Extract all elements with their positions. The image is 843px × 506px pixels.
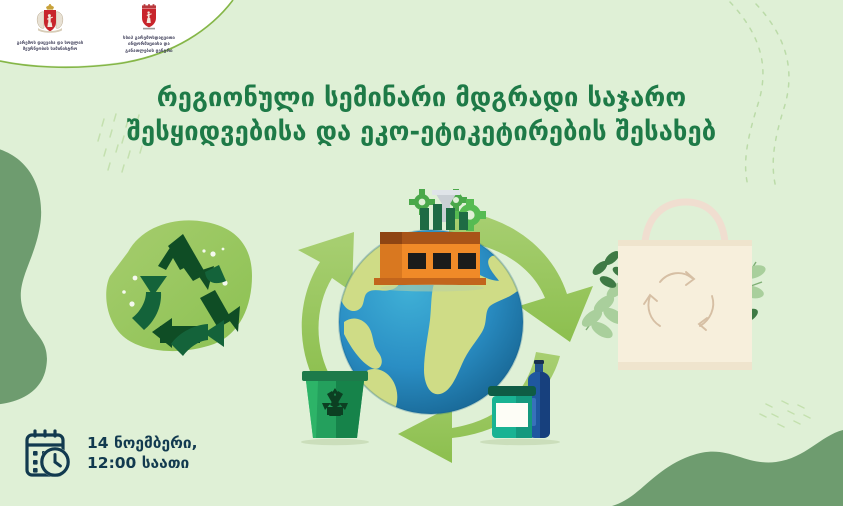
header-logos: გარემოს დაცვისა და სოფლის მეურნეობის სამ…: [0, 0, 220, 56]
calendar-clock-icon: [24, 428, 76, 478]
page-title: რეგიონული სემინარი მდგრადი საჯარო შესყიდ…: [0, 82, 843, 150]
bag-body: [618, 240, 752, 370]
environmental-information-and-education-centre-emblem: [139, 4, 159, 30]
title-line-2: შესყიდვებისა და ეკო-ეტიკეტირების შესახებ: [90, 116, 753, 150]
date-line-2: 12:00 საათი: [87, 453, 198, 473]
logo-eiec-caption: სსიპ გარემოსდაცვითი ინფორმაციისა და განა…: [100, 36, 198, 55]
title-line-1: რეგიონული სემინარი მდგრადი საჯარო: [157, 83, 687, 113]
date-time-text: 14 ნოემბერი, 12:00 საათი: [87, 433, 198, 473]
bag-handles: [645, 202, 725, 242]
date-line-1: 14 ნოემბერი,: [87, 433, 198, 453]
poster-canvas: გარემოს დაცვისა და სოფლის მეურნეობის სამ…: [0, 0, 843, 506]
date-time-block: 14 ნოემბერი, 12:00 საათი: [24, 428, 198, 478]
logo-government-caption: გარემოს დაცვისა და სოფლის მეურნეობის სამ…: [8, 40, 92, 52]
logo-eiec: სსიპ გარემოსდაცვითი ინფორმაციისა და განა…: [100, 4, 198, 55]
government-of-georgia-emblem: [33, 4, 67, 34]
logo-government-of-georgia: გარემოს დაცვისა და სოფლის მეურნეობის სამ…: [8, 4, 92, 52]
